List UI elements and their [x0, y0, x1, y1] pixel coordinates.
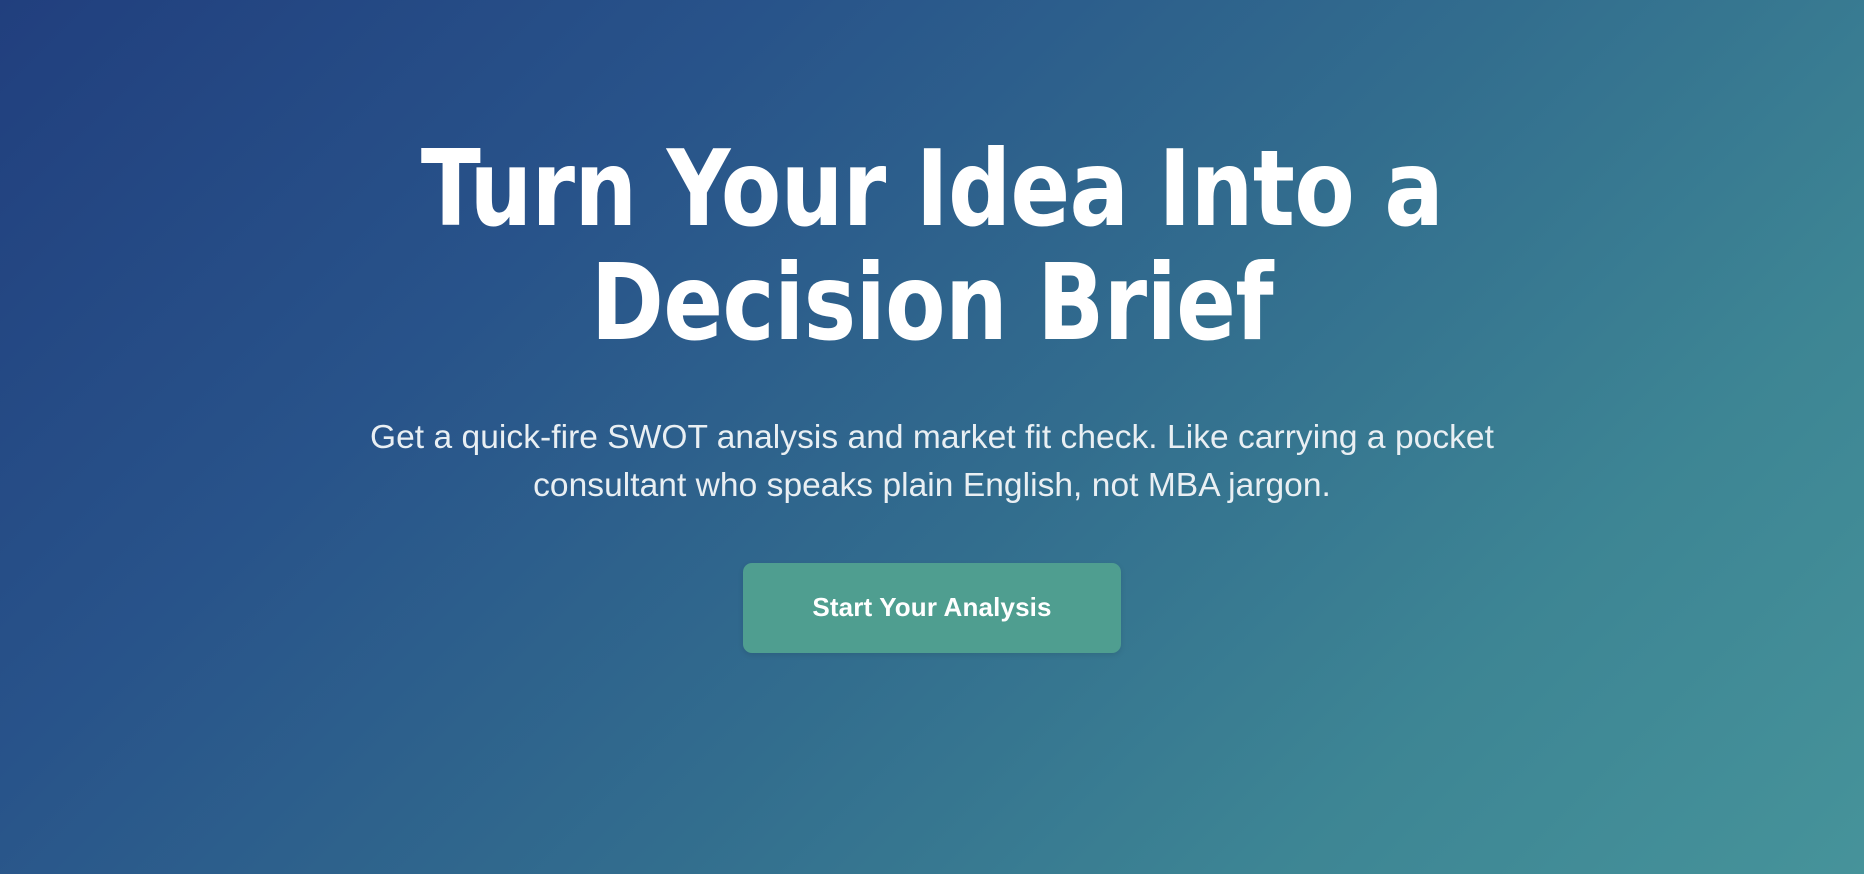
hero-subtitle: Get a quick-fire SWOT analysis and marke…: [342, 361, 1522, 510]
hero-content: Turn Your Idea Into a Decision Brief Get…: [327, 0, 1537, 653]
hero-section: Turn Your Idea Into a Decision Brief Get…: [0, 0, 1864, 874]
start-your-analysis-button[interactable]: Start Your Analysis: [743, 563, 1121, 653]
cta-container: Start Your Analysis: [327, 510, 1537, 653]
page-title: Turn Your Idea Into a Decision Brief: [369, 132, 1494, 361]
